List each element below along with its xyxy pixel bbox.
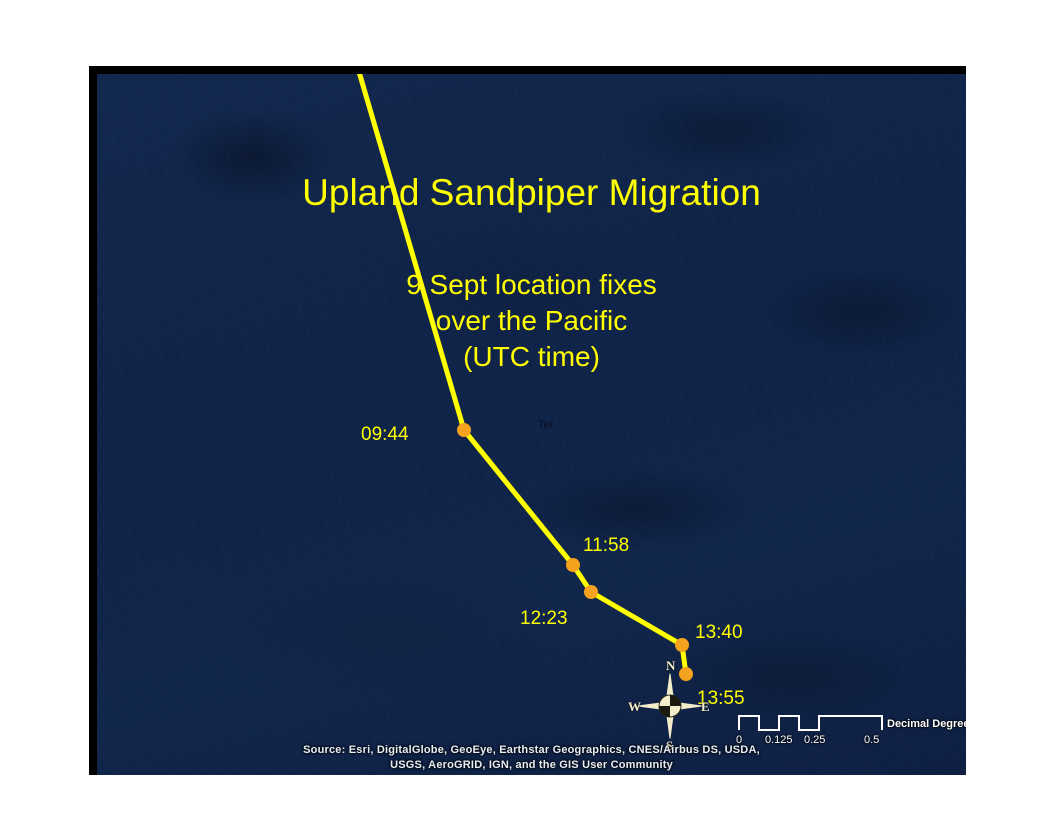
island-label-tet: Tet — [538, 419, 553, 431]
compass-label-west: W — [628, 699, 641, 715]
fix-time-label: 13:40 — [695, 622, 743, 644]
track-fix-marker[interactable] — [457, 423, 471, 437]
attribution-line-2: USGS, AeroGRID, IGN, and the GIS User Co… — [97, 758, 966, 773]
track-fix-marker[interactable] — [584, 585, 598, 599]
track-fix-marker[interactable] — [675, 638, 689, 652]
attribution-line-1: Source: Esri, DigitalGlobe, GeoEye, Eart… — [97, 743, 966, 758]
migration-track[interactable] — [97, 74, 966, 775]
scale-bar-units: Decimal Degrees — [887, 718, 966, 730]
fix-time-label: 12:23 — [520, 608, 568, 630]
fix-time-label: 09:44 — [361, 424, 409, 446]
track-fix-marker[interactable] — [566, 558, 580, 572]
map-attribution: Source: Esri, DigitalGlobe, GeoEye, Eart… — [97, 743, 966, 773]
scale-bar-graphic — [737, 708, 887, 734]
slide-canvas: Upland Sandpiper Migration 9 Sept locati… — [0, 0, 1056, 816]
map-frame[interactable]: Upland Sandpiper Migration 9 Sept locati… — [89, 66, 966, 775]
compass-rose: N E S W — [630, 660, 710, 752]
fix-time-label: 11:58 — [583, 535, 629, 557]
compass-label-east: E — [701, 699, 710, 715]
compass-label-north: N — [666, 658, 675, 674]
map-canvas[interactable]: Upland Sandpiper Migration 9 Sept locati… — [97, 74, 966, 775]
track-polyline — [358, 74, 686, 674]
